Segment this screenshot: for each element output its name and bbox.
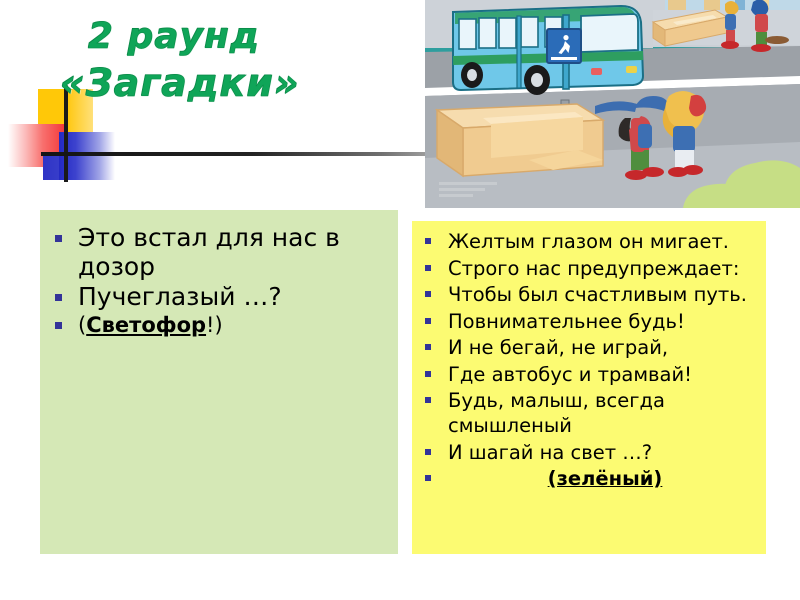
list-item-label: Будь, малыш, всегда смышленый [448,389,665,437]
answer-suffix: !) [206,313,223,337]
bullet-square-icon [55,235,62,242]
slide-canvas: 2 раунд «Загадки» [0,0,800,600]
list-item-label: Чтобы был счастливым путь. [448,283,747,306]
riddle-verse-list: Желтым глазом он мигает. Строго нас пред… [412,221,766,491]
list-item: Где автобус и трамвай! [418,362,762,387]
answer-word: Светофор [86,313,206,337]
bullet-square-icon [425,291,431,297]
slide-title: 2 раунд «Загадки» [60,14,420,106]
list-item-answer: (Светофор!) [48,312,394,338]
list-item: Пучеглазый …? [48,282,394,311]
answer-prefix: ( [78,313,86,337]
riddle-answer-list: Это встал для нас в дозор Пучеглазый …? … [40,210,398,338]
list-item: Чтобы был счастливым путь. [418,282,762,307]
bullet-square-icon [425,397,431,403]
bullet-square-icon [425,344,431,350]
list-item: Повнимательнее будь! [418,309,762,334]
bullet-square-icon [425,238,431,244]
list-item-label: И не бегай, не играй, [448,336,668,359]
title-line-2: «Загадки» [60,60,420,106]
title-line-1: 2 раунд [88,14,420,60]
riddle-verse-box: Желтым глазом он мигает. Строго нас пред… [412,221,766,554]
list-item-label: И шагай на свет …? [448,441,652,464]
answer-word: (зелёный) [548,467,663,490]
list-item-label: Это встал для нас в дозор [78,223,340,281]
bus-crossing-illustration [425,0,800,208]
bullet-square-icon [425,475,431,481]
decor-horizontal-rule [41,152,425,156]
list-item-label: Строго нас предупреждает: [448,257,739,280]
bullet-square-icon [425,265,431,271]
bullet-square-icon [425,449,431,455]
list-item-label: Повнимательнее будь! [448,310,685,333]
bullet-square-icon [55,322,62,329]
list-item-answer: (зелёный) [418,466,762,491]
list-item: Желтым глазом он мигает. [418,229,762,254]
riddle-answer-box: Это встал для нас в дозор Пучеглазый …? … [40,210,398,554]
list-item: Будь, малыш, всегда смышленый [418,388,762,438]
list-item: И не бегай, не играй, [418,335,762,360]
list-item-label: Желтым глазом он мигает. [448,230,729,253]
bullet-square-icon [425,371,431,377]
list-item: Это встал для нас в дозор [48,223,394,281]
list-item: И шагай на свет …? [418,440,762,465]
list-item: Строго нас предупреждает: [418,256,762,281]
list-item-label: Пучеглазый …? [78,282,282,311]
list-item-label: Где автобус и трамвай! [448,363,692,386]
bullet-square-icon [55,294,62,301]
bullet-square-icon [425,318,431,324]
